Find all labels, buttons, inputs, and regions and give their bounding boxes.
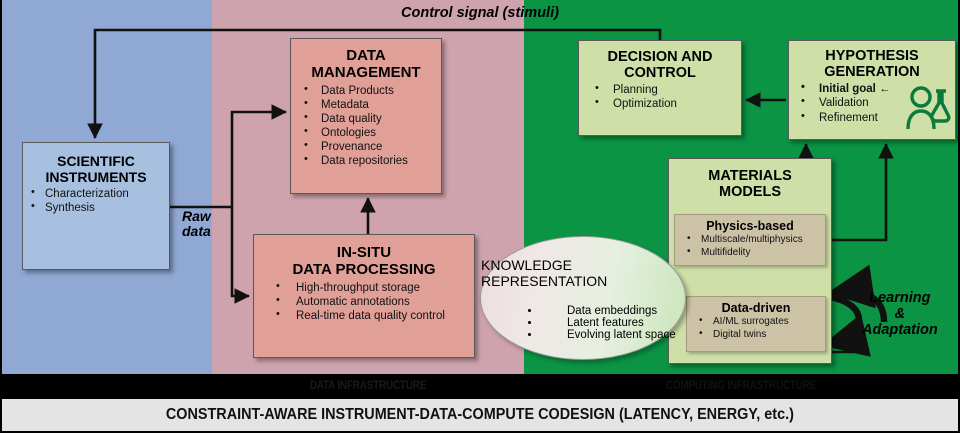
list-item: Data quality: [291, 112, 441, 126]
raw-data-label: Raw data: [182, 209, 211, 239]
data-driven-subbox[interactable]: Data-driven AI/ML surrogates Digital twi…: [686, 296, 826, 352]
list-item: Data Products: [291, 84, 441, 98]
list-item: Planning: [579, 83, 741, 97]
list-item: Synthesis: [23, 201, 169, 215]
data-driven-list: AI/ML surrogates Digital twins: [687, 316, 825, 341]
list-item: Ontologies: [291, 126, 441, 140]
list-item: Characterization: [23, 187, 169, 201]
list-item: High-throughput storage: [254, 281, 474, 295]
list-item: Optimization: [579, 97, 741, 111]
in-situ-title: IN-SITU DATA PROCESSING: [254, 235, 474, 279]
learning-line-1: Learning: [862, 290, 938, 306]
knowledge-representation-title: KNOWLEDGE REPRESENTATION: [481, 237, 685, 289]
materials-models-title: MATERIALS MODELS: [669, 159, 831, 200]
decision-and-control-list: Planning Optimization: [579, 83, 741, 111]
learning-adaptation-label: Learning & Adaptation: [862, 290, 938, 339]
hypothesis-generation-box[interactable]: HYPOTHESIS GENERATION Initial goal ← Val…: [788, 40, 956, 140]
hypothesis-generation-title: HYPOTHESIS GENERATION: [789, 41, 955, 80]
list-item: Provenance: [291, 140, 441, 154]
list-item: Data embeddings: [541, 305, 685, 317]
in-situ-list: High-throughput storage Automatic annota…: [254, 281, 474, 323]
raw-data-line-1: Raw: [182, 209, 211, 224]
list-item: Real-time data quality control: [254, 309, 474, 323]
scientific-instruments-box[interactable]: SCIENTIFIC INSTRUMENTS Characterization …: [22, 142, 170, 270]
control-signal-label: Control signal (stimuli): [0, 5, 960, 21]
raw-data-line-2: data: [182, 224, 211, 239]
in-situ-data-processing-box[interactable]: IN-SITU DATA PROCESSING High-throughput …: [253, 234, 475, 358]
footer-text: CONSTRAINT-AWARE INSTRUMENT-DATA-COMPUTE…: [166, 406, 794, 424]
list-item: Evolving latent space: [541, 329, 685, 341]
list-item: Metadata: [291, 98, 441, 112]
data-management-title: DATA MANAGEMENT: [291, 39, 441, 82]
knowledge-representation-ellipse[interactable]: KNOWLEDGE REPRESENTATION Data embeddings…: [480, 236, 686, 360]
footer-bar: CONSTRAINT-AWARE INSTRUMENT-DATA-COMPUTE…: [2, 396, 958, 431]
knowledge-representation-list: Data embeddings Latent features Evolving…: [501, 305, 685, 341]
data-driven-title: Data-driven: [687, 297, 825, 315]
data-management-list: Data Products Metadata Data quality Onto…: [291, 84, 441, 168]
list-item: Latent features: [541, 317, 685, 329]
list-item: Multiscale/multiphysics: [675, 234, 825, 247]
physics-based-list: Multiscale/multiphysics Multifidelity: [675, 234, 825, 259]
list-item: Data repositories: [291, 154, 441, 168]
scientific-instruments-list: Characterization Synthesis: [23, 187, 169, 215]
decision-and-control-title: DECISION AND CONTROL: [579, 41, 741, 81]
list-item: AI/ML surrogates: [687, 316, 825, 329]
list-item: Multifidelity: [675, 247, 825, 260]
list-item: Digital twins: [687, 329, 825, 342]
physics-based-subbox[interactable]: Physics-based Multiscale/multiphysics Mu…: [674, 214, 826, 266]
decision-and-control-box[interactable]: DECISION AND CONTROL Planning Optimizati…: [578, 40, 742, 136]
physics-based-title: Physics-based: [675, 215, 825, 233]
list-item: Automatic annotations: [254, 295, 474, 309]
learning-line-2: &: [862, 306, 938, 322]
scientific-instruments-title: SCIENTIFIC INSTRUMENTS: [23, 143, 169, 185]
diagram-canvas: DATA INFRASTRUCTURE COMPUTING INFRASTRUC…: [0, 0, 960, 433]
data-management-box[interactable]: DATA MANAGEMENT Data Products Metadata D…: [290, 38, 442, 194]
scientist-flask-icon: [905, 85, 951, 133]
learning-line-3: Adaptation: [862, 322, 938, 338]
